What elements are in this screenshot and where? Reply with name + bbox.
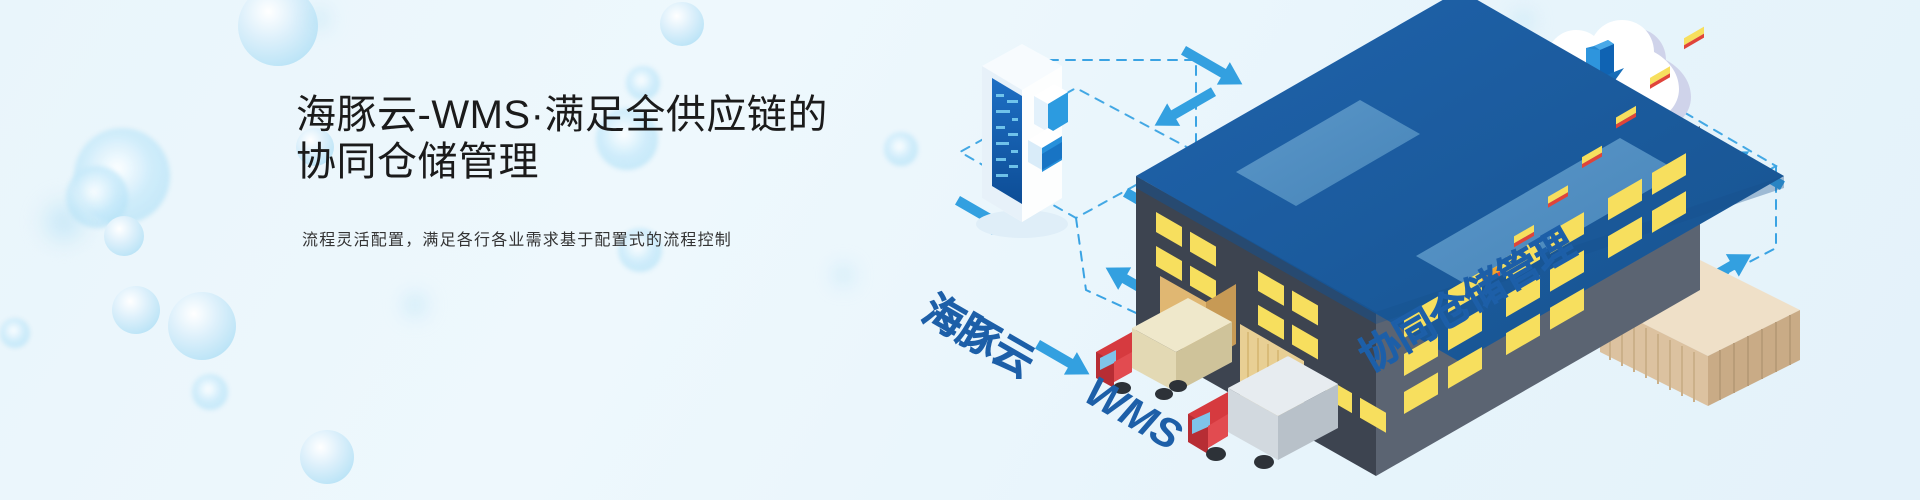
decorative-bubble bbox=[112, 286, 160, 334]
decorative-bubble bbox=[306, 6, 332, 32]
flow-arrow-1 bbox=[1177, 39, 1249, 96]
decorative-bubble bbox=[66, 166, 128, 228]
decorative-bubble bbox=[830, 262, 856, 288]
decorative-bubble bbox=[192, 374, 228, 410]
flow-arrow-6 bbox=[1031, 333, 1096, 386]
headline-line-1: 海豚云-WMS·满足全供应链的 bbox=[296, 93, 828, 137]
decorative-bubble bbox=[38, 196, 90, 248]
decorative-bubble bbox=[0, 318, 30, 348]
server-rack bbox=[976, 44, 1068, 238]
decorative-bubble bbox=[400, 290, 430, 320]
decorative-bubble bbox=[300, 430, 354, 484]
decorative-bubble bbox=[660, 2, 704, 46]
hero-banner: 海豚云-WMS·满足全供应链的 协同仓储管理 流程灵活配置，满足各行各业需求基于… bbox=[0, 0, 1920, 500]
decorative-bubble bbox=[74, 128, 170, 224]
headline-line-2: 协同仓储管理 bbox=[296, 139, 936, 186]
warehouse-illustration: 海豚云 WMS 协同仓储管理 bbox=[900, 0, 1920, 500]
decorative-bubble bbox=[238, 0, 318, 66]
label-haitunyun: 海豚云 bbox=[916, 288, 1042, 386]
decorative-bubble bbox=[104, 216, 144, 256]
flow-arrow-2 bbox=[1148, 80, 1220, 137]
page-title: 海豚云-WMS·满足全供应链的 协同仓储管理 bbox=[296, 92, 936, 186]
decorative-bubble bbox=[168, 292, 236, 360]
banner-copy: 海豚云-WMS·满足全供应链的 协同仓储管理 流程灵活配置，满足各行各业需求基于… bbox=[296, 92, 936, 250]
banner-subtitle: 流程灵活配置，满足各行各业需求基于配置式的流程控制 bbox=[296, 226, 936, 250]
